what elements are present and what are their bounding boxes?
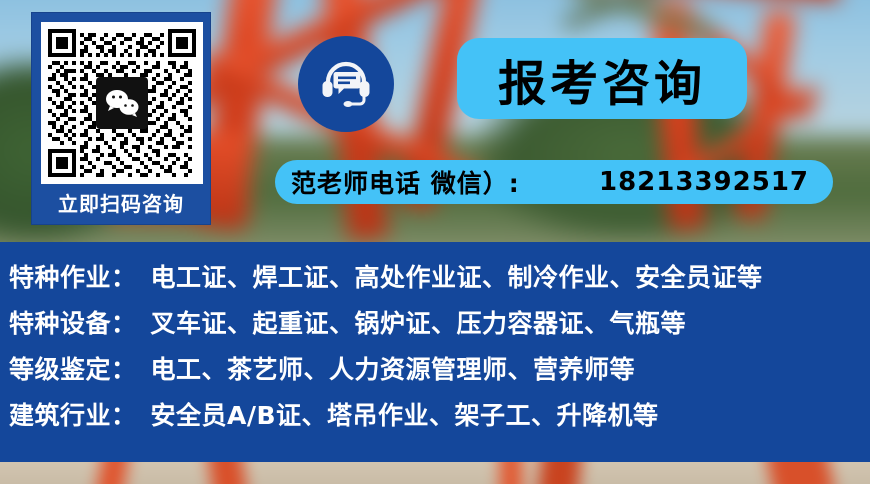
phone-label: 范老师电话 微信）: <box>291 164 520 200</box>
title-pill[interactable]: 报考咨询 <box>457 38 747 119</box>
service-items: 电工证、焊工证、高处作业证、制冷作业、安全员证等 <box>151 258 763 294</box>
service-items: 电工、茶艺师、人力资源管理师、营养师等 <box>151 350 636 386</box>
headset-support-icon <box>298 36 394 132</box>
bottom-photo-blur-layer <box>0 462 870 484</box>
bottom-crane-part <box>537 462 583 484</box>
wechat-icon <box>96 77 148 129</box>
wechat-glyph <box>104 88 140 118</box>
bottom-ground <box>0 462 870 484</box>
bottom-crane-part <box>500 462 522 484</box>
bottom-crane-part <box>764 462 835 484</box>
phone-pill[interactable]: 范老师电话 微信）: 18213392517 <box>275 160 833 204</box>
qr-code-card[interactable]: 立即扫码咨询 <box>31 12 211 225</box>
service-label: 等级鉴定： <box>9 350 137 386</box>
title-pill-text: 报考咨询 <box>498 44 706 114</box>
service-row-special-operations: 特种作业： 电工证、焊工证、高处作业证、制冷作业、安全员证等 <box>0 258 870 304</box>
bottom-crane-part <box>206 462 248 484</box>
promotional-poster: 立即扫码咨询 报考咨询 范老师电话 微信）: 18213392517 特种作业：… <box>0 0 870 484</box>
qr-code-image[interactable] <box>41 22 203 184</box>
bottom-photo-strip <box>0 462 870 484</box>
service-row-grade-certification: 等级鉴定： 电工、茶艺师、人力资源管理师、营养师等 <box>0 350 870 396</box>
service-label: 建筑行业： <box>9 396 137 432</box>
qr-card-label: 立即扫码咨询 <box>41 184 201 224</box>
service-label: 特种作业： <box>9 258 137 294</box>
service-items: 安全员A/B证、塔吊作业、架子工、升降机等 <box>151 396 659 432</box>
service-row-special-equipment: 特种设备： 叉车证、起重证、锅炉证、压力容器证、气瓶等 <box>0 304 870 350</box>
services-panel: 特种作业： 电工证、焊工证、高处作业证、制冷作业、安全员证等 特种设备： 叉车证… <box>0 242 870 462</box>
service-items: 叉车证、起重证、锅炉证、压力容器证、气瓶等 <box>151 304 687 340</box>
headset-glyph <box>315 53 377 115</box>
service-row-construction-industry: 建筑行业： 安全员A/B证、塔吊作业、架子工、升降机等 <box>0 396 870 442</box>
phone-number: 18213392517 <box>599 167 817 197</box>
service-label: 特种设备： <box>9 304 137 340</box>
